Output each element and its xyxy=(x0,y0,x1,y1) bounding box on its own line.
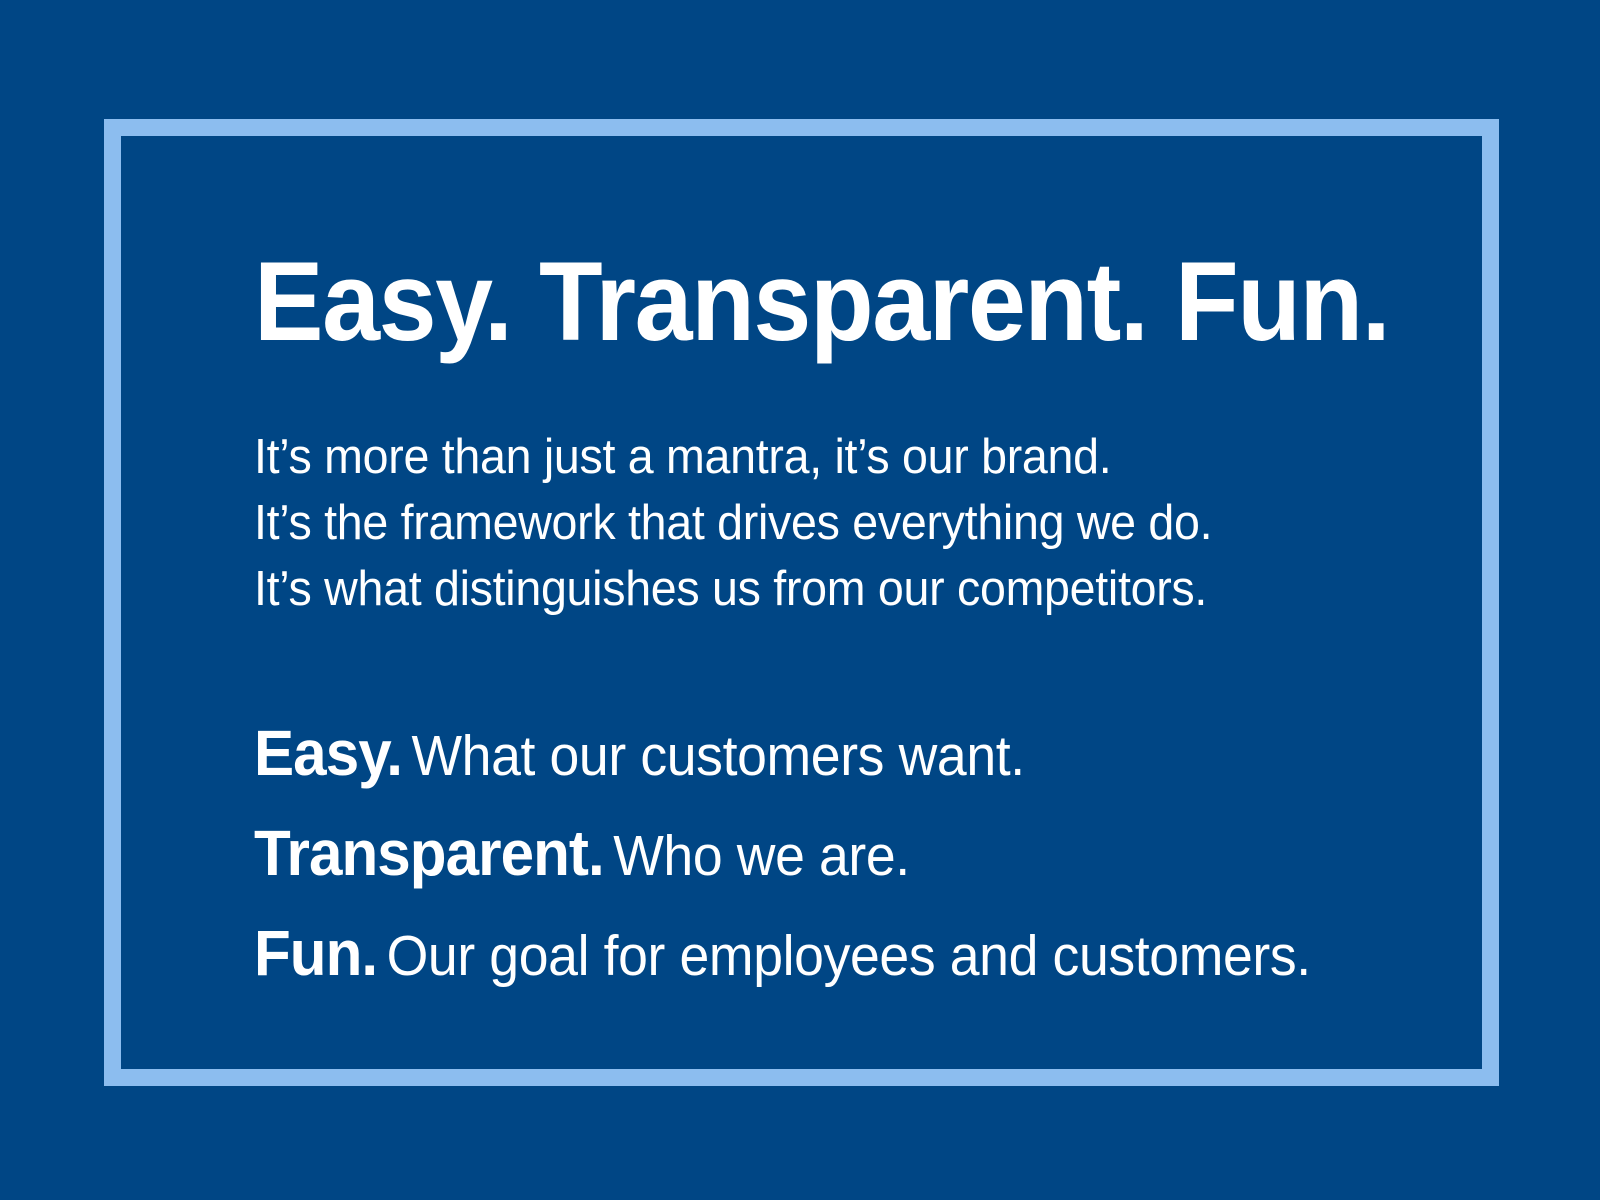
intro-paragraph: It’s more than just a mantra, it’s our b… xyxy=(254,424,1484,622)
definition-term-fun: Fun. xyxy=(254,917,377,989)
paragraph-line-1: It’s more than just a mantra, it’s our b… xyxy=(254,424,1423,490)
page-title: Easy. Transparent. Fun. xyxy=(254,246,1398,358)
definitions-list: Easy.What our customers want. Transparen… xyxy=(254,712,1484,1012)
slide-content: Easy. Transparent. Fun. It’s more than j… xyxy=(254,246,1484,1012)
paragraph-line-2: It’s the framework that drives everythin… xyxy=(254,490,1423,556)
brand-mantra-slide: Easy. Transparent. Fun. It’s more than j… xyxy=(0,0,1600,1200)
definition-description-fun: Our goal for employees and customers. xyxy=(377,924,1311,988)
paragraph-line-3: It’s what distinguishes us from our comp… xyxy=(254,556,1423,622)
definition-term-easy: Easy. xyxy=(254,717,402,789)
definition-term-transparent: Transparent. xyxy=(254,817,604,889)
slide-border-frame: Easy. Transparent. Fun. It’s more than j… xyxy=(104,119,1499,1086)
definition-item-easy: Easy.What our customers want. xyxy=(254,712,1410,812)
definition-item-transparent: Transparent.Who we are. xyxy=(254,812,1410,912)
definition-item-fun: Fun.Our goal for employees and customers… xyxy=(254,912,1410,1012)
definition-description-transparent: Who we are. xyxy=(604,824,910,888)
definition-description-easy: What our customers want. xyxy=(402,724,1025,788)
